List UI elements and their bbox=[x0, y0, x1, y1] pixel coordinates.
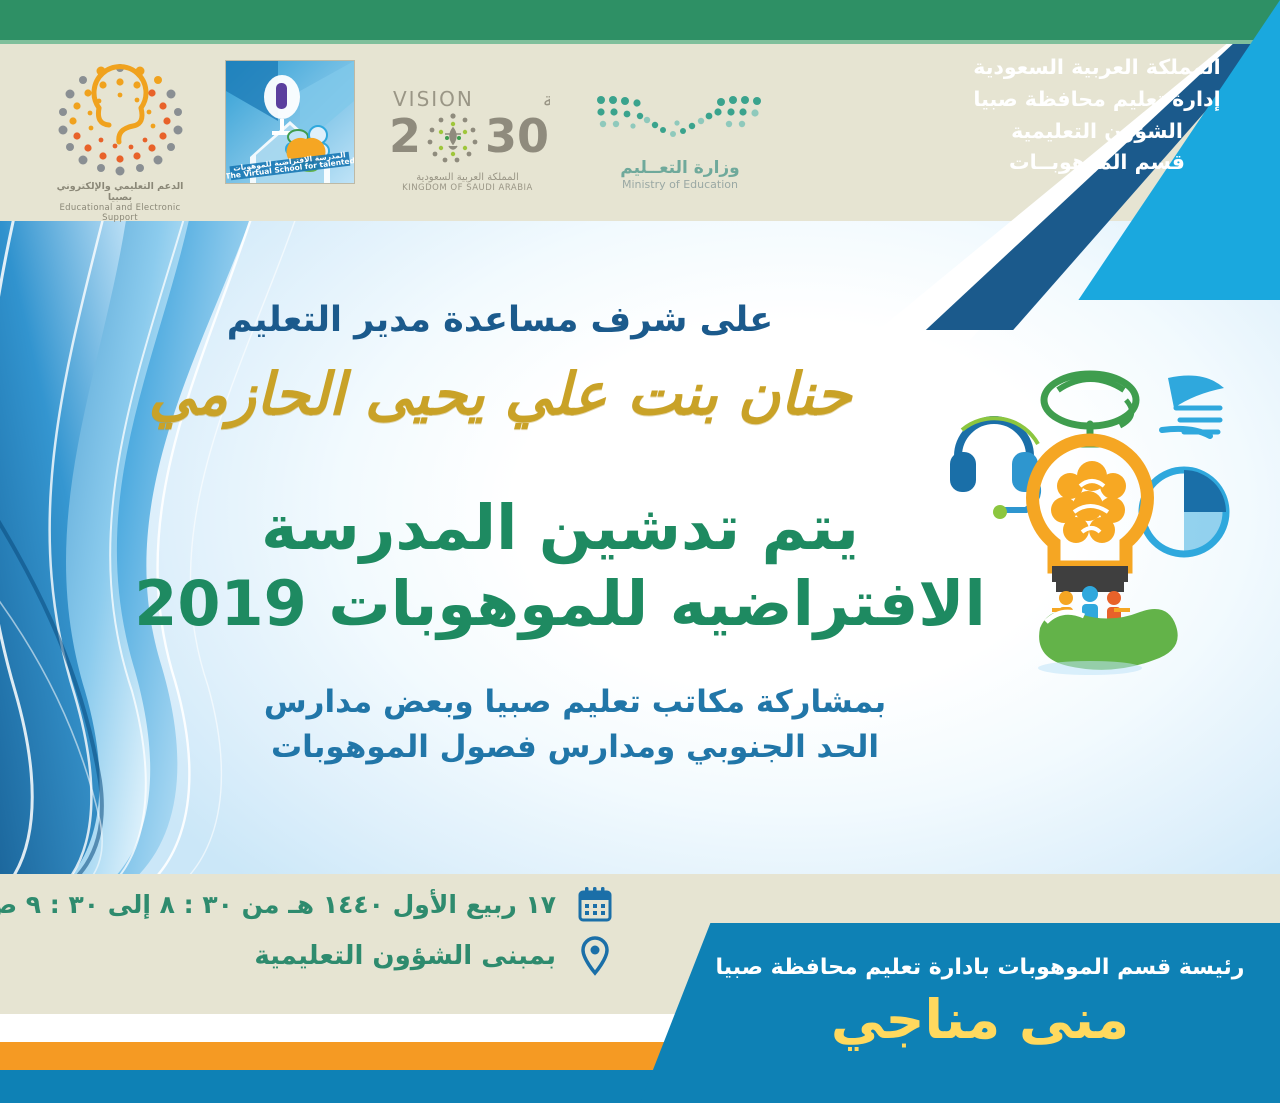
subheadline-line-2: الحد الجنوبي ومدارس فصول الموهوبات bbox=[160, 725, 990, 770]
organization-heading: المملكة العربية السعودية إدارة تعليم محا… bbox=[932, 52, 1262, 179]
virtual-school-logo-box: المدرسة الافتراضية للموهوبات The Virtual… bbox=[225, 60, 355, 184]
logo-virtual-school: المدرسة الافتراضية للموهوبات The Virtual… bbox=[225, 60, 360, 184]
headline: يتم تدشين المدرسة الافتراضيه للموهوبات 2… bbox=[120, 490, 1000, 641]
svg-text:2: 2 bbox=[389, 109, 421, 163]
logo-vision-2030: VISION رؤيــــة 2 30 bbox=[385, 86, 550, 193]
org-line-3: الشؤون التعليمية bbox=[932, 116, 1262, 148]
svg-text:30: 30 bbox=[485, 109, 549, 163]
ministry-caption: وزارة التعــليم Ministry of Education bbox=[585, 158, 775, 191]
vision-2030-icon: VISION رؤيــــة 2 30 bbox=[385, 86, 550, 166]
guest-name-calligraphy: حنان بنت علي يحيى الحازمي bbox=[0, 360, 1000, 428]
info-row-date: ١٧ ربيع الأول ١٤٤٠ هـ من ٣٠ : ٨ إلى ٣٠ :… bbox=[0, 878, 650, 930]
main-content-area: على شرف مساعدة مدير التعليم حنان بنت علي… bbox=[0, 221, 1280, 874]
headline-line-2: الافتراضيه للموهوبات 2019 bbox=[120, 566, 1000, 642]
lightbulb-brain-icon bbox=[1033, 440, 1148, 592]
svg-text:رؤيــــة: رؤيــــة bbox=[543, 89, 550, 111]
ministry-dots-icon bbox=[585, 90, 775, 152]
vision-2030-caption: المملكة العربية السعودية KINGDOM OF SAUD… bbox=[385, 172, 550, 193]
svg-text:VISION: VISION bbox=[393, 87, 474, 111]
support-logo-english: Educational and Electronic Support bbox=[45, 204, 195, 224]
logo-row: الدعم التعليمي والإلكتروني بصبيا Educati… bbox=[0, 48, 900, 220]
event-date-time: ١٧ ربيع الأول ١٤٤٠ هـ من ٣٠ : ٨ إلى ٣٠ :… bbox=[0, 890, 556, 919]
subheadline-line-1: بمشاركة مكاتب تعليم صبيا وبعض مدارس bbox=[160, 680, 990, 725]
vision-2030-arabic: المملكة العربية السعودية bbox=[385, 172, 550, 183]
info-rows: ١٧ ربيع الأول ١٤٤٠ هـ من ٣٠ : ٨ إلى ٣٠ :… bbox=[0, 878, 650, 982]
mouse-icon bbox=[1142, 470, 1226, 554]
subheadline: بمشاركة مكاتب تعليم صبيا وبعض مدارس الحد… bbox=[160, 680, 990, 770]
support-logo-arabic: الدعم التعليمي والإلكتروني بصبيا bbox=[45, 182, 195, 204]
poster-root: على شرف مساعدة مدير التعليم حنان بنت علي… bbox=[0, 0, 1280, 1103]
event-location: بمبنى الشؤون التعليمية bbox=[254, 941, 556, 971]
logo-educational-electronic-support: الدعم التعليمي والإلكتروني بصبيا Educati… bbox=[45, 58, 195, 223]
org-line-1: المملكة العربية السعودية bbox=[932, 52, 1262, 84]
honour-line: على شرف مساعدة مدير التعليم bbox=[0, 300, 1000, 340]
calendar-icon bbox=[574, 882, 616, 926]
signature-role: رئيسة قسم الموهوبات بادارة تعليم محافظة … bbox=[680, 955, 1280, 981]
virtual-school-icon: المدرسة الافتراضية للموهوبات The Virtual… bbox=[226, 61, 354, 183]
logo-ministry-of-education: وزارة التعــليم Ministry of Education bbox=[585, 90, 775, 191]
info-row-location: بمبنى الشؤون التعليمية bbox=[0, 930, 650, 982]
headline-line-1: يتم تدشين المدرسة bbox=[120, 490, 1000, 566]
signature-name: منى مناجي bbox=[680, 989, 1280, 1051]
support-dots-icon bbox=[45, 58, 195, 178]
hand-icon bbox=[1038, 609, 1178, 675]
support-logo-caption: الدعم التعليمي والإلكتروني بصبيا Educati… bbox=[45, 182, 195, 223]
top-green-strip-highlight bbox=[0, 40, 1280, 44]
org-line-2: إدارة تعليم محافظة صبيا bbox=[932, 84, 1262, 116]
map-pin-icon bbox=[574, 934, 616, 978]
top-green-strip bbox=[0, 0, 1280, 40]
ministry-arabic: وزارة التعــليم bbox=[585, 158, 775, 178]
globe-icon bbox=[1044, 374, 1136, 444]
org-line-4: قسم الموهوبــات bbox=[932, 147, 1262, 179]
book-icon bbox=[1162, 376, 1224, 436]
ministry-english: Ministry of Education bbox=[585, 178, 775, 191]
vision-2030-english: KINGDOM OF SAUDI ARABIA bbox=[385, 183, 550, 193]
signature-block: رئيسة قسم الموهوبات بادارة تعليم محافظة … bbox=[680, 955, 1280, 1051]
